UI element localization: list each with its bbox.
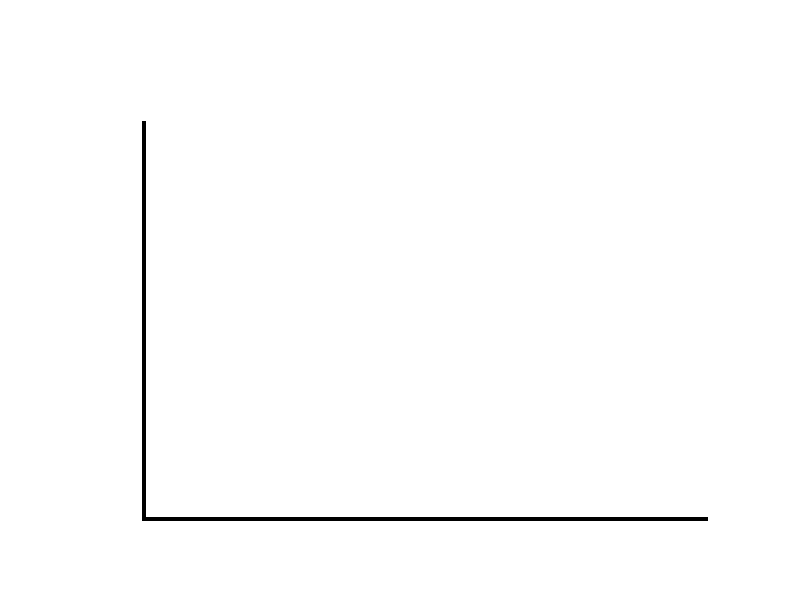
elisa-chart-figure <box>0 0 800 600</box>
plot-area <box>146 124 708 517</box>
x-axis-spine <box>142 517 708 521</box>
fit-curve <box>146 124 708 517</box>
